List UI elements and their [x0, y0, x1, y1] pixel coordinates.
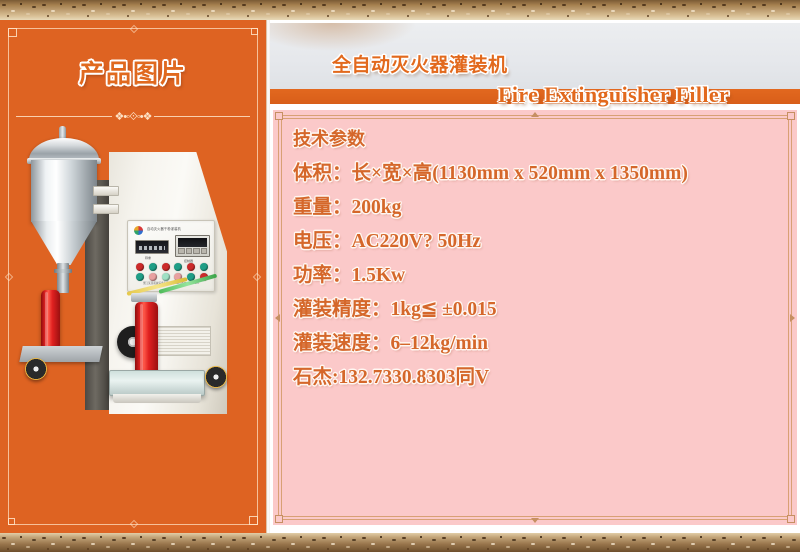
machine-product-photo: 自动灭火器干粉灌装机 称重 控制器	[9, 130, 257, 460]
bottom-texture-strip	[0, 533, 800, 552]
controller-keypad	[178, 248, 207, 254]
extinguisher-valve-head	[131, 293, 157, 302]
pink-frame-tick-left-icon	[275, 314, 280, 322]
spec-line: 功率：1.5Kw	[293, 259, 781, 293]
specifications-list: 技术参数体积：长×宽×高(1130mm x 520mm x 1350mm)重量：…	[293, 123, 781, 395]
brand-logo-icon	[134, 226, 143, 235]
caster-wheel-right-icon	[205, 366, 227, 388]
spec-heading: 技术参数	[293, 123, 781, 157]
frame-tick-top-icon	[130, 25, 138, 33]
control-button[interactable]	[149, 273, 157, 281]
control-button[interactable]	[200, 263, 208, 271]
divider-rule-left	[16, 116, 112, 117]
weight-display-screen	[135, 240, 169, 254]
product-title-chinese: 全自动灭火器灌装机	[332, 50, 508, 77]
control-button[interactable]	[187, 263, 195, 271]
spec-line: 灌装精度：1kg≦ ±0.015	[293, 293, 781, 327]
controller-key[interactable]	[178, 248, 185, 254]
weight-display-label: 称重	[145, 256, 151, 260]
ornamental-divider: ❖•◦⟐◦•❖	[16, 110, 250, 124]
specifications-area: 技术参数体积：长×宽×高(1130mm x 520mm x 1350mm)重量：…	[273, 110, 797, 525]
top-texture-strip	[0, 0, 800, 20]
left-product-image-panel: 产品图片 ❖•◦⟐◦•❖ 自动灭火器干粉灌装机	[0, 20, 266, 533]
frame-tick-bottom-icon	[130, 520, 138, 528]
support-arm-lower	[93, 204, 119, 214]
divider-flourish-icon: ❖•◦⟐◦•❖	[115, 110, 152, 124]
pink-frame-corner-tl-icon	[275, 112, 283, 120]
controller-screen-readout	[178, 238, 207, 247]
control-button[interactable]	[162, 273, 170, 281]
filling-nozzle	[57, 263, 69, 293]
fire-extinguisher-left	[41, 290, 60, 348]
weighing-platform-scale	[109, 370, 205, 396]
pink-frame-tick-right-icon	[790, 314, 795, 322]
spec-line: 电压：AC220V? 50Hz	[293, 225, 781, 259]
page-root: 产品图片 ❖•◦⟐◦•❖ 自动灭火器干粉灌装机	[0, 0, 800, 552]
control-button[interactable]	[136, 273, 144, 281]
controller-key[interactable]	[186, 248, 193, 254]
left-panel-title: 产品图片	[0, 54, 266, 90]
spec-line: 石杰:132.7330.8303同V	[293, 361, 781, 395]
controller-key[interactable]	[193, 248, 200, 254]
right-spec-panel: 全自动灭火器灌装机 Fire Extinguisher Filler 技术参数体…	[270, 20, 800, 533]
support-arm-upper	[93, 186, 119, 196]
spec-line: 灌装速度：6–12kg/min	[293, 327, 781, 361]
pink-frame-tick-top-icon	[531, 112, 539, 117]
control-button[interactable]	[149, 263, 157, 271]
scale-base	[113, 394, 201, 403]
spec-line: 体积：长×宽×高(1130mm x 520mm x 1350mm)	[293, 157, 781, 191]
pink-frame-corner-br-icon	[787, 515, 795, 523]
caster-wheel-left-icon	[25, 358, 47, 380]
spec-line: 重量：200kg	[293, 191, 781, 225]
pink-frame-tick-bottom-icon	[531, 518, 539, 523]
fire-extinguisher-right	[135, 302, 158, 376]
divider-rule-right	[154, 116, 250, 117]
pink-frame-corner-bl-icon	[275, 515, 283, 523]
product-title-english: Fire Extinguisher Filler	[498, 82, 729, 108]
control-button[interactable]	[136, 263, 144, 271]
control-button[interactable]	[174, 263, 182, 271]
pink-frame-corner-tr-icon	[787, 112, 795, 120]
control-panel-brand-text: 自动灭火器干粉灌装机	[147, 226, 181, 231]
control-button[interactable]	[162, 263, 170, 271]
frame-corner-top-right-icon	[251, 28, 258, 35]
hopper-body	[31, 160, 97, 222]
controller-display-screen	[175, 235, 210, 257]
controller-key[interactable]	[201, 248, 208, 254]
frame-corner-bottom-left-icon	[8, 518, 15, 525]
